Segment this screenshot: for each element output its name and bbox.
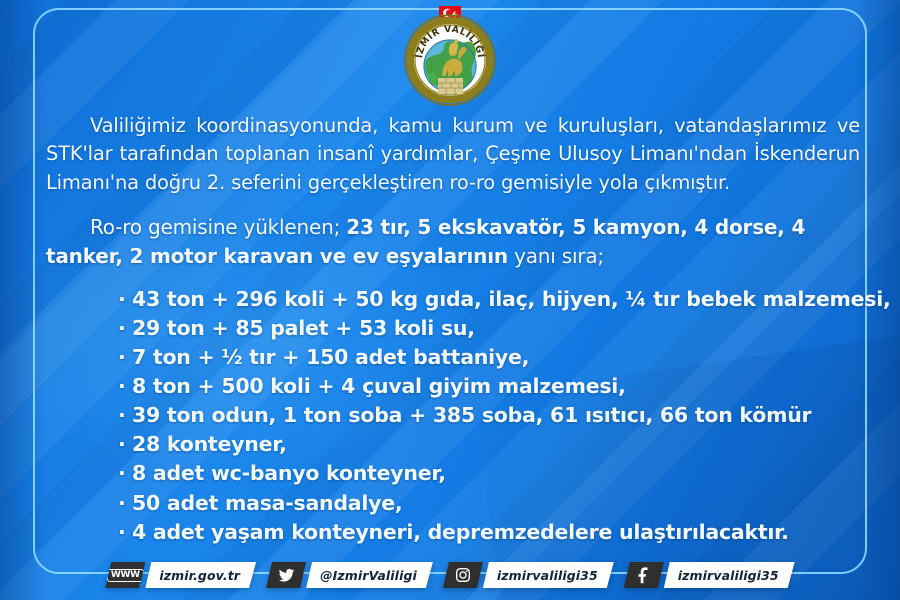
social-media-bar: WWW izmir.gov.tr @IzmirValiligi izmirval…	[0, 558, 900, 592]
list-item: 39 ton odun, 1 ton soba + 385 soba, 61 ı…	[118, 401, 860, 430]
list-item: 7 ton + ½ tır + 150 adet battaniye,	[118, 343, 860, 372]
izmir-valiligi-emblem: İZMİR VALİLİĞİ	[398, 4, 502, 108]
cargo-tail-text: yanı sıra;	[508, 244, 604, 268]
list-item: 8 ton + 500 koli + 4 çuval giyim malzeme…	[118, 372, 860, 401]
list-item: 29 ton + 85 palet + 53 koli su,	[118, 314, 860, 343]
twitter-icon	[266, 562, 306, 588]
badge-facebook-label: izmirvaliligi35	[664, 562, 795, 588]
facebook-icon	[624, 562, 664, 588]
list-item: 50 adet masa-sandalye,	[118, 489, 860, 518]
badge-instagram-label: izmirvaliligi35	[483, 562, 614, 588]
instagram-icon	[443, 562, 483, 588]
cargo-lead-text: Ro-ro gemisine yüklenen;	[90, 215, 346, 239]
www-icon: WWW	[105, 562, 145, 588]
announcement-body: Valiliğimiz koordinasyonunda, kamu kurum…	[46, 112, 860, 547]
paragraph-cargo: Ro-ro gemisine yüklenen; 23 tır, 5 ekska…	[46, 213, 860, 271]
badge-website-label: izmir.gov.tr	[145, 562, 256, 588]
badge-twitter[interactable]: @IzmirValiligi	[266, 562, 433, 588]
list-item: 4 adet yaşam konteyneri, depremzedelere …	[118, 518, 860, 547]
list-item: 43 ton + 296 koli + 50 kg gıda, ilaç, hi…	[118, 285, 860, 314]
badge-facebook[interactable]: izmirvaliligi35	[624, 562, 795, 588]
paragraph-intro-text: Valiliğimiz koordinasyonunda, kamu kurum…	[46, 114, 860, 194]
background-left-edge-shade	[0, 0, 46, 600]
badge-instagram[interactable]: izmirvaliligi35	[443, 562, 614, 588]
paragraph-intro: Valiliğimiz koordinasyonunda, kamu kurum…	[46, 112, 860, 197]
badge-twitter-label: @IzmirValiligi	[306, 562, 433, 588]
cargo-bullet-list: 43 ton + 296 koli + 50 kg gıda, ilaç, hi…	[46, 285, 860, 547]
list-item: 8 adet wc-banyo konteyner,	[118, 459, 860, 488]
list-item: 28 konteyner,	[118, 430, 860, 459]
poster-canvas: İZMİR VALİLİĞİ	[0, 0, 900, 600]
badge-website[interactable]: WWW izmir.gov.tr	[105, 562, 256, 588]
